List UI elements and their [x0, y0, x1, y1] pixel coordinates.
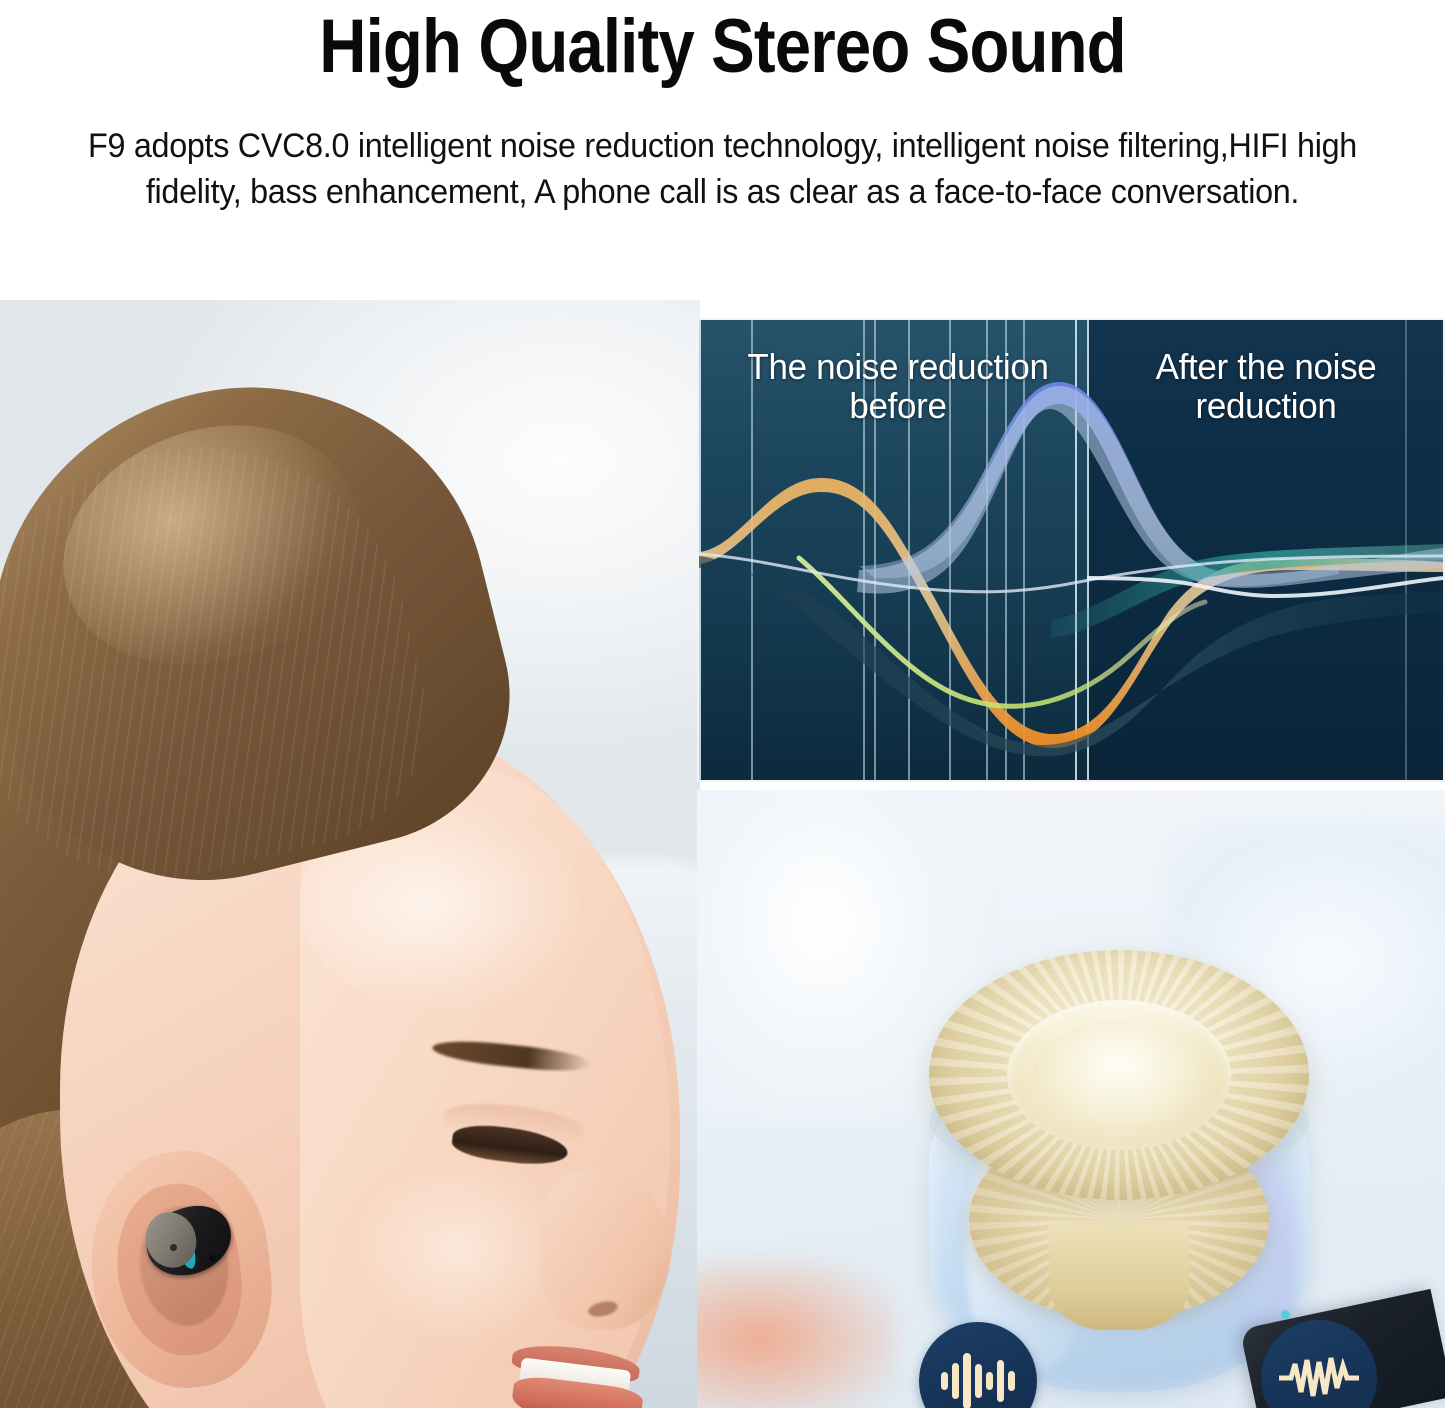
model-wearing-earbud-photo	[0, 300, 700, 1408]
chart-plot-area: The noise reduction before After the noi…	[699, 320, 1443, 780]
audio-waveform-bars-icon	[939, 1346, 1017, 1408]
earbud-indicator-dot	[170, 1244, 177, 1251]
speaker-driver-dome-inner	[1033, 1020, 1205, 1132]
feature-background-peach-blur	[697, 1260, 897, 1408]
earbud-microphone-hole	[209, 1255, 216, 1262]
speaker-driver-stem	[1049, 1220, 1189, 1330]
noise-reduction-waveform-chart: The noise reduction before After the noi…	[697, 318, 1445, 782]
product-marketing-image: High Quality Stereo Sound F9 adopts CVC8…	[0, 0, 1445, 1408]
chart-label-before: The noise reduction before	[713, 348, 1084, 426]
smartphone-accent-dot	[1281, 1310, 1290, 1319]
dark-shadow-band	[699, 556, 1443, 756]
page-description: F9 adopts CVC8.0 intelligent noise reduc…	[55, 124, 1390, 215]
page-title: High Quality Stereo Sound	[101, 6, 1344, 88]
chart-label-after: After the noise reduction	[1096, 348, 1436, 426]
features-section: CVC8.0 noise reduction Bass boost High d…	[697, 790, 1445, 1408]
header-section: High Quality Stereo Sound F9 adopts CVC8…	[0, 0, 1445, 300]
sound-pulse-zigzag-icon	[1279, 1348, 1359, 1408]
right-panel: The noise reduction before After the noi…	[700, 300, 1445, 1408]
